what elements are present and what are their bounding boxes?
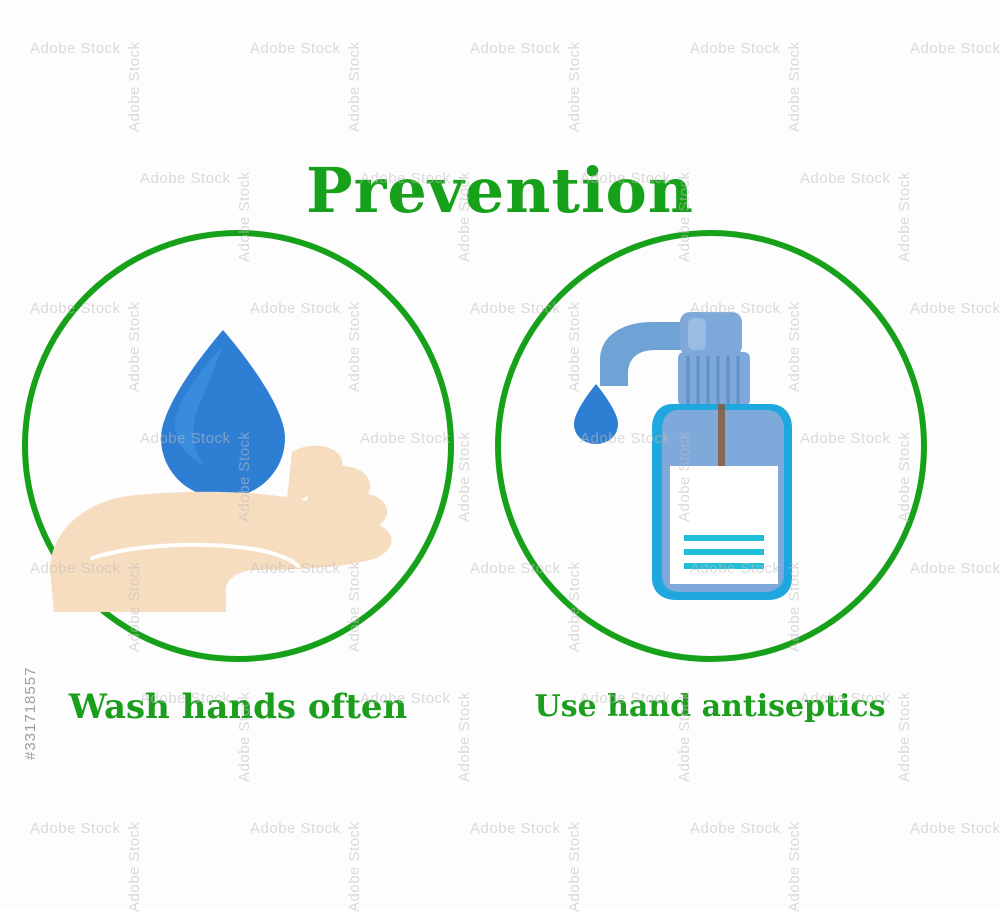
watermark-text-vertical: Adobe Stock <box>786 821 803 912</box>
poster-canvas: Prevention Wash hands often <box>0 0 1000 908</box>
hand-with-water-drop-icon <box>40 320 440 620</box>
watermark-text-vertical: Adobe Stock <box>346 821 363 912</box>
watermark-text: Adobe Stock <box>910 300 1000 317</box>
watermark-text: Adobe Stock <box>910 820 1000 837</box>
sanitizer-pump-bottle-icon <box>560 300 870 620</box>
page-title: Prevention <box>0 160 1000 222</box>
watermark-text-vertical: Adobe Stock <box>126 821 143 912</box>
watermark-text-vertical: Adobe Stock <box>566 821 583 912</box>
watermark-text: Adobe Stock <box>30 40 121 57</box>
watermark-text-vertical: Adobe Stock <box>456 431 473 522</box>
watermark-text: Adobe Stock <box>250 820 341 837</box>
watermark-text: Adobe Stock <box>910 560 1000 577</box>
watermark-text-vertical: Adobe Stock <box>566 41 583 132</box>
watermark-text: Adobe Stock <box>690 820 781 837</box>
watermark-text: Adobe Stock <box>470 820 561 837</box>
caption-wash-hands: Wash hands often <box>22 690 454 724</box>
caption-antiseptics: Use hand antiseptics <box>490 692 930 722</box>
watermark-text: Adobe Stock <box>470 40 561 57</box>
watermark-text: Adobe Stock <box>690 40 781 57</box>
watermark-text: Adobe Stock <box>910 40 1000 57</box>
watermark-text-vertical: Adobe Stock <box>456 691 473 782</box>
watermark-text-vertical: Adobe Stock <box>346 41 363 132</box>
watermark-text: Adobe Stock <box>30 820 121 837</box>
watermark-text-vertical: Adobe Stock <box>126 41 143 132</box>
watermark-text-vertical: Adobe Stock <box>786 41 803 132</box>
watermark-id: #331718557 <box>22 667 39 760</box>
watermark-text: Adobe Stock <box>250 40 341 57</box>
